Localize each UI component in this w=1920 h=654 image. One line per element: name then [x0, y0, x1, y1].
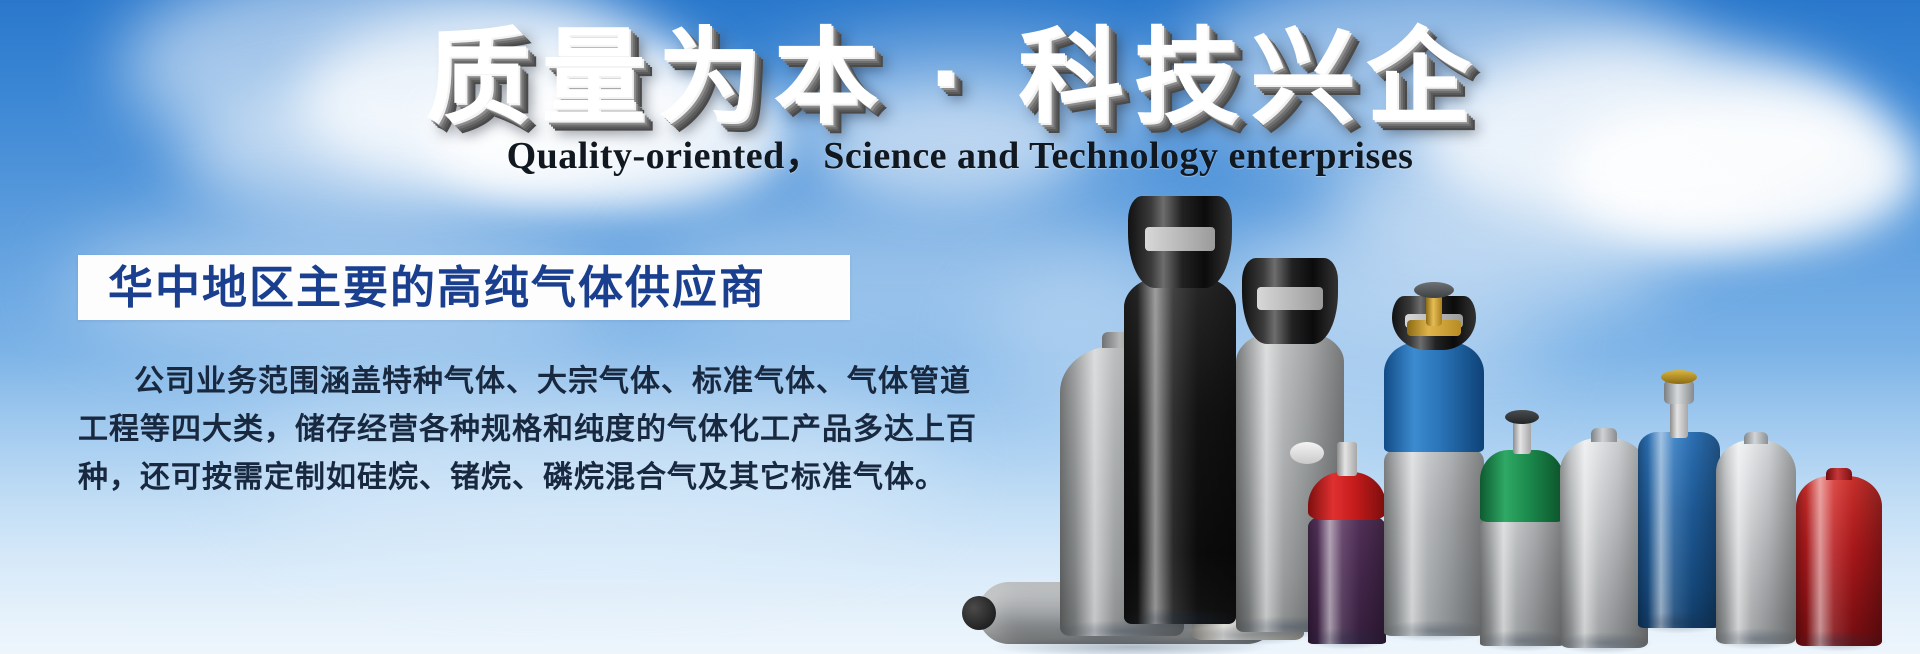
horizontal-grey-cylinder [978, 574, 1278, 652]
cloud-shape [980, 250, 1540, 430]
page-title: 质量为本 · 科技兴企 [426, 26, 1494, 130]
cream-white-cylinder [1192, 408, 1304, 640]
paragraph-line: 种，还可按需定制如硅烷、锗烷、磷烷混合气及其它标准气体。 [78, 454, 868, 502]
small-blue-cylinder [1638, 360, 1720, 628]
promotional-banner: 质量为本 · 科技兴企 Quality-oriented，Science and… [0, 0, 1920, 654]
blue-steel-cylinder [1384, 284, 1484, 636]
paragraph-line: 工程等四大类，储存经营各种规格和纯度的气体化工产品多达上百 [78, 406, 868, 454]
red-bottle-cylinder [1796, 464, 1882, 646]
gas-cylinder-group-photo [960, 134, 1920, 654]
tall-black-cylinder [1124, 204, 1236, 624]
slogan-text: 华中地区主要的高纯气体供应商 [78, 265, 766, 310]
page-subtitle: Quality-oriented，Science and Technology … [507, 136, 1414, 178]
tall-grey-cylinder [1236, 264, 1344, 632]
cloud-shape [1240, 200, 1660, 340]
description-paragraph: 公司业务范围涵盖特种气体、大宗气体、标准气体、气体管道 工程等四大类，储存经营各… [78, 358, 868, 502]
large-grey-cylinder [1060, 336, 1184, 636]
headline-container: 质量为本 · 科技兴企 [0, 26, 1920, 130]
brushed-silver-cylinder [1716, 428, 1796, 644]
red-top-purple-cylinder [1308, 426, 1386, 644]
subtitle-container: Quality-oriented，Science and Technology … [0, 136, 1920, 178]
green-top-grey-cylinder [1480, 396, 1564, 646]
paragraph-line: 公司业务范围涵盖特种气体、大宗气体、标准气体、气体管道 [78, 358, 868, 406]
silver-aluminium-cylinder [1560, 422, 1648, 648]
slogan-box: 华中地区主要的高纯气体供应商 [78, 255, 850, 320]
